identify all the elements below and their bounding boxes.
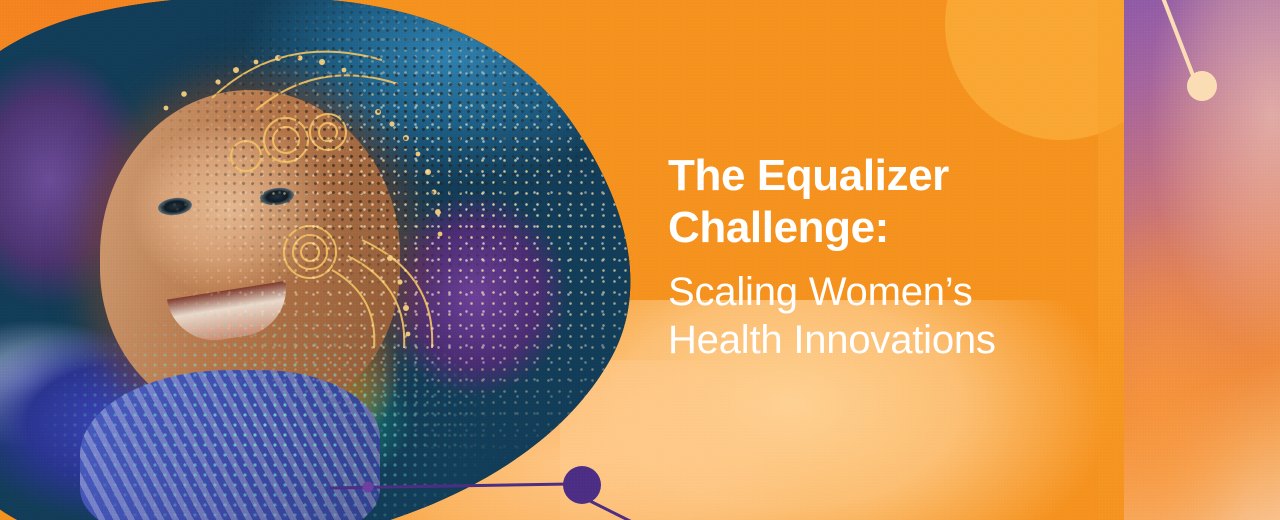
page-title: The Equalizer Challenge: — [668, 150, 1188, 254]
hero-banner: The Equalizer Challenge: Scaling Women’s… — [0, 0, 1280, 520]
page-subtitle: Scaling Women’s Health Innovations — [668, 268, 1188, 364]
headline-block: The Equalizer Challenge: Scaling Women’s… — [668, 150, 1188, 364]
